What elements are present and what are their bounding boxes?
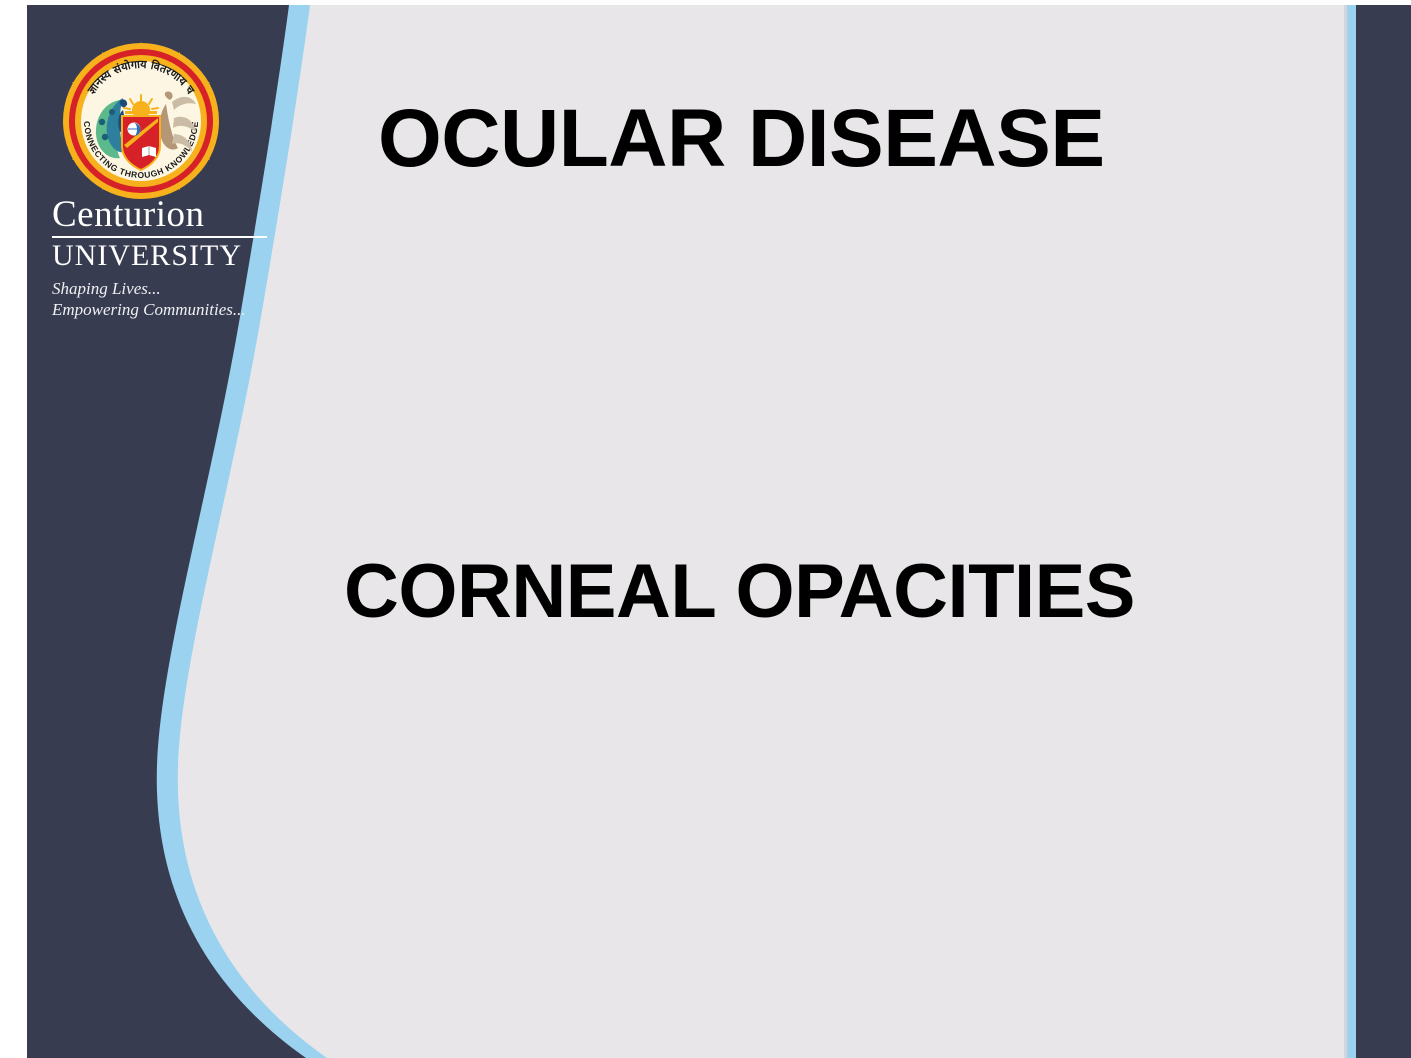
wordmark-line-university: UNIVERSITY xyxy=(52,241,267,271)
slide-title: OCULAR DISEASE xyxy=(378,98,1105,180)
right-accent-stripe xyxy=(1347,5,1356,1058)
wordmark-tagline-line-1: Shaping Lives... xyxy=(52,278,267,299)
slide-canvas: ज्ञानस्य संयोगाय वितरणाय च CONNECTING TH… xyxy=(0,0,1411,1058)
seal-shield xyxy=(122,116,160,170)
centurion-university-seal-icon: ज्ञानस्य संयोगाय वितरणाय च CONNECTING TH… xyxy=(62,42,220,200)
university-wordmark: Centurion UNIVERSITY Shaping Lives... Em… xyxy=(52,196,267,321)
right-navy-band xyxy=(1356,5,1411,1058)
slide-subtitle: CORNEAL OPACITIES xyxy=(344,554,1135,630)
wordmark-line-centurion: Centurion xyxy=(52,196,267,238)
wordmark-tagline-line-2: Empowering Communities... xyxy=(52,299,267,320)
